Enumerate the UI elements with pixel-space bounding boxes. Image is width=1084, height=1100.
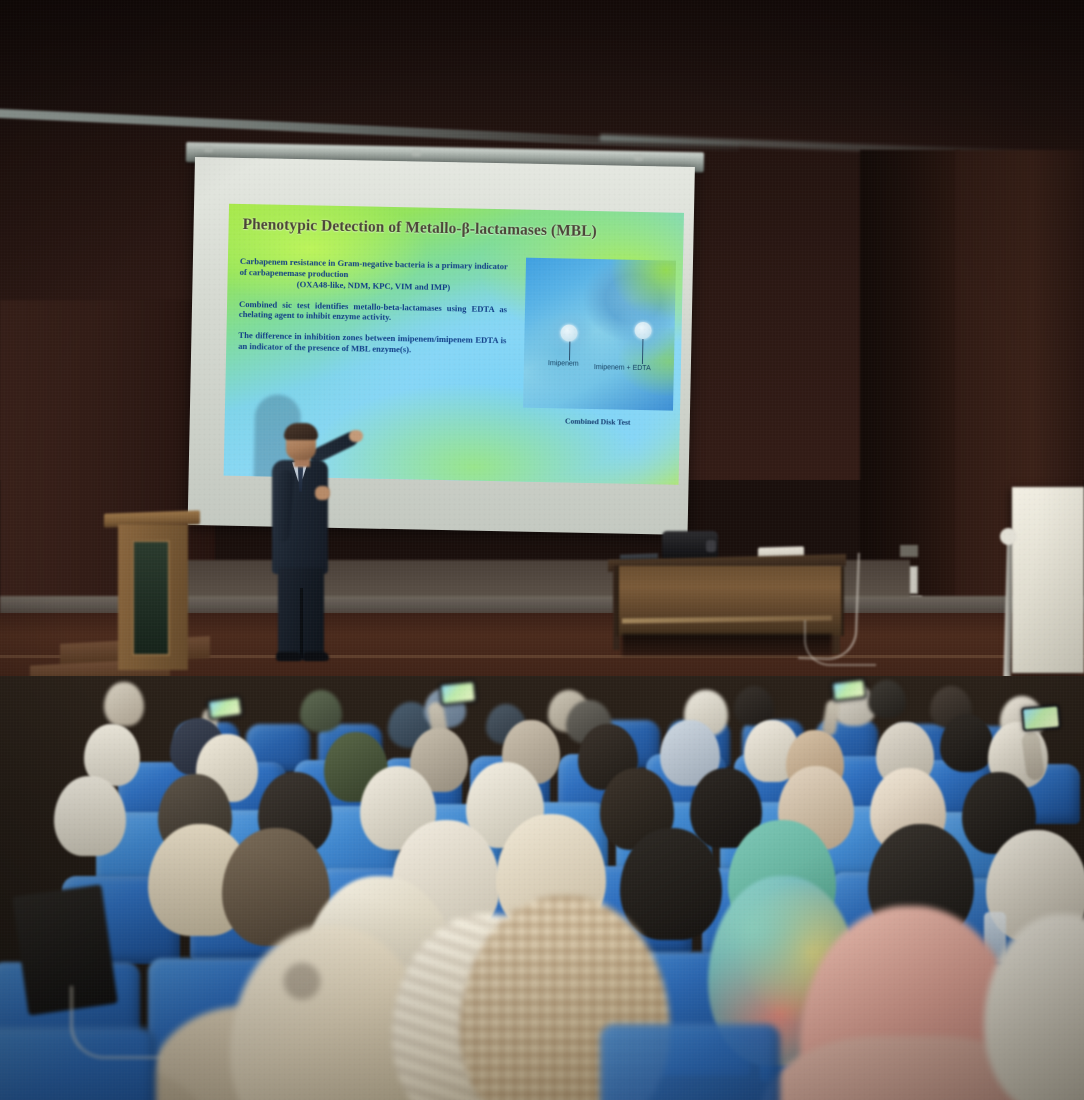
- phone-screen-2: [441, 682, 475, 703]
- power-cable-floor: [804, 620, 876, 666]
- speaker-pointing-hand: [349, 430, 363, 442]
- phone-screen-4: [1023, 707, 1059, 730]
- audience-seating-area: [0, 676, 1084, 1100]
- imipenem-label: Imipenem: [548, 360, 579, 368]
- audience-member-far-2: [300, 690, 342, 732]
- audience-member-r2-12: [940, 714, 994, 772]
- audience-phone-1[interactable]: [207, 696, 243, 721]
- podium-front-panel: [132, 540, 170, 656]
- audience-phone-4[interactable]: [1021, 704, 1061, 731]
- speaker-leg-separation: [300, 588, 303, 658]
- lecture-hall-photo: Phenotypic Detection of Metallo-β-lactam…: [0, 0, 1084, 1100]
- speaker-shoe-left: [276, 652, 302, 661]
- flipchart-board: [1012, 487, 1084, 673]
- figure-caption: Combined Disk Test: [523, 416, 673, 428]
- petri-dish-figure: Imipenem Imipenem + EDTA: [523, 258, 676, 411]
- speaker-shoe-right: [303, 652, 329, 661]
- imipenem-leader-line: [569, 342, 570, 361]
- audience-member-r3-1: [54, 776, 126, 856]
- phone-screen-3: [833, 680, 865, 700]
- seat-row6-2[interactable]: [600, 1024, 780, 1100]
- slide-title: Phenotypic Detection of Metallo-β-lactam…: [242, 216, 672, 243]
- projection-screen: Phenotypic Detection of Metallo-β-lactam…: [188, 157, 695, 535]
- slide-paragraph-4: The difference in inhibition zones betwe…: [238, 330, 506, 357]
- audience-member-r4-5: [620, 828, 722, 940]
- aisle-cable: [70, 986, 163, 1059]
- speaker-hair: [284, 423, 318, 440]
- ceiling: [0, 0, 1084, 150]
- imipenem-edta-label: Imipenem + EDTA: [594, 364, 651, 372]
- speaker-resting-hand: [315, 486, 330, 500]
- slide-body-text: Carbapenem resistance in Gram-negative b…: [238, 256, 508, 367]
- audience-phone-3[interactable]: [831, 678, 867, 702]
- audience-member-far-1: [104, 682, 144, 726]
- audience-phone-2[interactable]: [439, 680, 477, 706]
- phone-screen-1: [209, 698, 241, 718]
- slide-paragraph-3: Combined sic test identifies metallo-bet…: [239, 299, 507, 326]
- projector-lens: [706, 540, 716, 552]
- audience-member-far-11: [868, 680, 906, 718]
- flipchart-hinge: [1000, 528, 1017, 545]
- wall-sign: [900, 545, 918, 557]
